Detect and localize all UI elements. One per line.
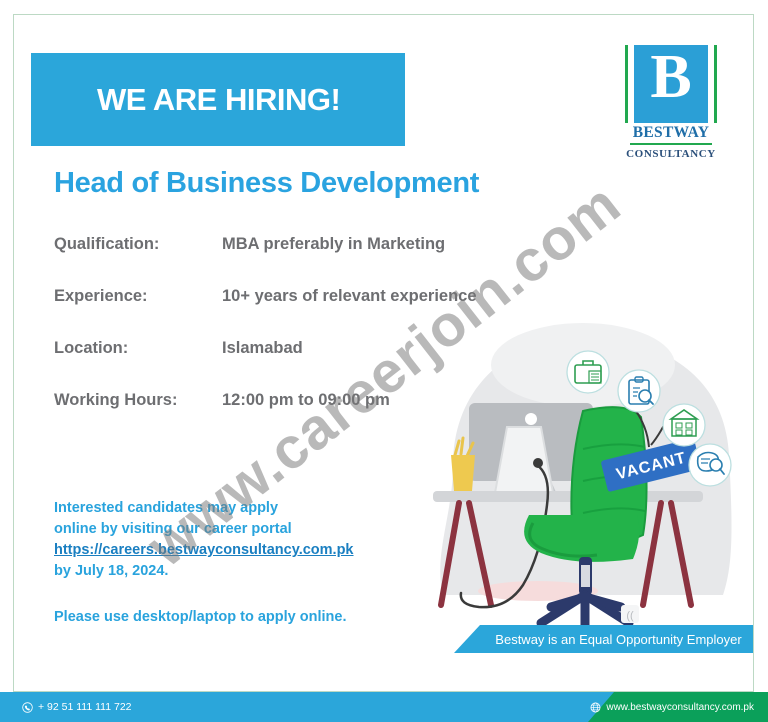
footer-phone-text: + 92 51 111 111 722 xyxy=(38,701,132,713)
detail-label: Working Hours: xyxy=(54,391,222,410)
footer-website[interactable]: www.bestwayconsultancy.com.pk xyxy=(590,692,754,722)
hiring-headline: WE ARE HIRING! xyxy=(31,82,340,118)
poster-card: VACANT (( xyxy=(13,14,754,692)
apply-line-2: online by visiting our career portal xyxy=(54,519,354,540)
globe-icon xyxy=(590,702,601,713)
career-portal-link[interactable]: https://careers.bestwayconsultancy.com.p… xyxy=(54,540,354,561)
service-icon-cluster xyxy=(555,347,735,487)
briefcase-icon xyxy=(567,351,609,393)
detail-row-qualification: Qualification: MBA preferably in Marketi… xyxy=(54,235,524,287)
logo-letter: B xyxy=(650,49,691,105)
document-search-icon xyxy=(689,444,731,486)
job-advertisement-poster: VACANT (( xyxy=(0,0,768,722)
detail-label: Qualification: xyxy=(54,235,222,254)
clipboard-search-icon xyxy=(618,370,660,412)
bestway-logo: B BESTWAY CONSULTANCY xyxy=(617,45,725,160)
logo-square: B xyxy=(632,45,710,123)
detail-row-location: Location: Islamabad xyxy=(54,339,524,391)
detail-row-experience: Experience: 10+ years of relevant experi… xyxy=(54,287,524,339)
job-details-list: Qualification: MBA preferably in Marketi… xyxy=(54,235,524,443)
detail-value: Islamabad xyxy=(222,339,303,358)
we-are-hiring-banner: WE ARE HIRING! xyxy=(31,53,405,146)
equal-opportunity-ribbon: Bestway is an Equal Opportunity Employer xyxy=(454,625,754,653)
footer-website-text: www.bestwayconsultancy.com.pk xyxy=(606,702,754,713)
poster-footer: + 92 51 111 111 722 www.bestwayconsultan… xyxy=(0,692,768,722)
job-title: Head of Business Development xyxy=(54,167,479,200)
institution-icon xyxy=(663,404,705,446)
footer-phone: + 92 51 111 111 722 xyxy=(22,692,132,722)
detail-value: 10+ years of relevant experience xyxy=(222,287,477,306)
detail-row-working-hours: Working Hours: 12:00 pm to 09:00 pm xyxy=(54,391,524,443)
phone-icon xyxy=(22,702,33,713)
detail-value: MBA preferably in Marketing xyxy=(222,235,445,254)
apply-device-note: Please use desktop/laptop to apply onlin… xyxy=(54,609,346,625)
apply-line-1: Interested candidates may apply xyxy=(54,498,354,519)
equal-opportunity-text: Bestway is an Equal Opportunity Employer xyxy=(454,625,754,653)
logo-mark-icon: B xyxy=(625,45,717,123)
logo-brand-name: BESTWAY xyxy=(630,124,712,145)
logo-tagline: CONSULTANCY xyxy=(617,148,725,160)
apply-instructions: Interested candidates may apply online b… xyxy=(54,498,354,582)
svg-text:((: (( xyxy=(626,610,634,622)
detail-value: 12:00 pm to 09:00 pm xyxy=(222,391,390,410)
apply-deadline: by July 18, 2024. xyxy=(54,561,354,582)
detail-label: Experience: xyxy=(54,287,222,306)
detail-label: Location: xyxy=(54,339,222,358)
